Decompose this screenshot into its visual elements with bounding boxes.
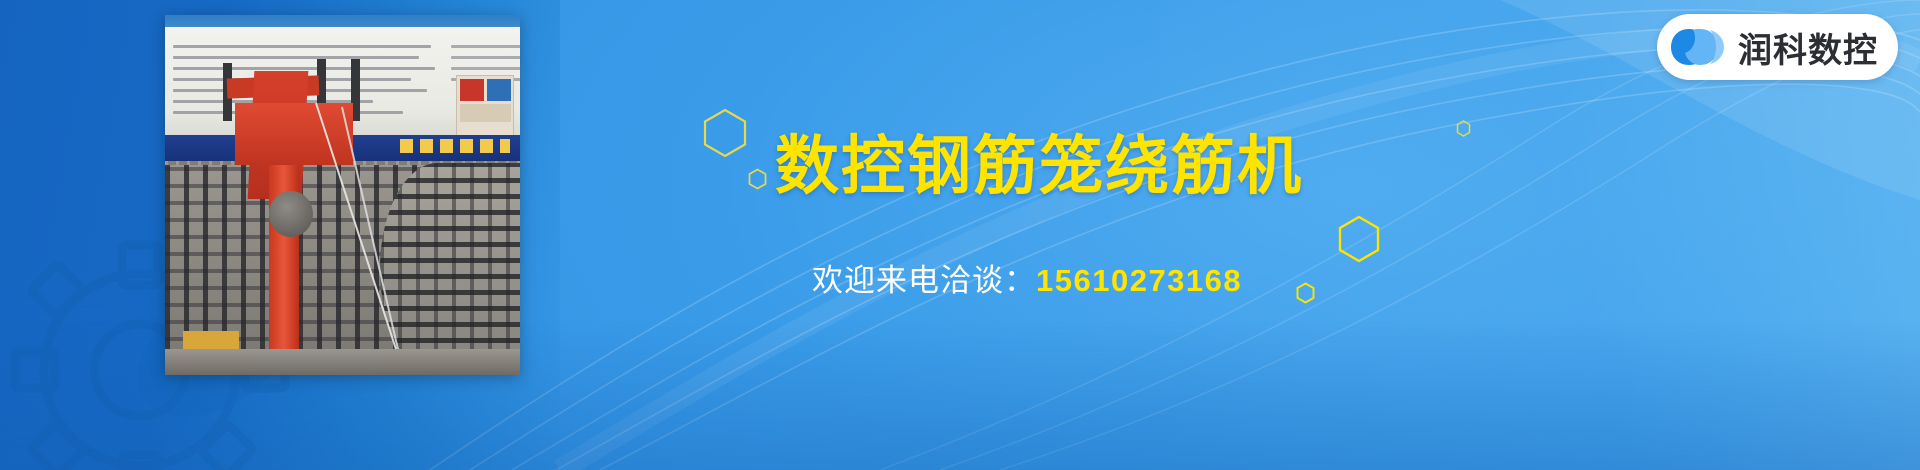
- contact-phone-number[interactable]: 15610273168: [1036, 263, 1242, 298]
- hexagon-small-left-icon: [748, 168, 767, 190]
- brand-name: 润科数控: [1738, 23, 1878, 72]
- contact-line: 欢迎来电洽谈：15610273168: [812, 262, 1242, 299]
- contact-label: 欢迎来电洽谈：: [812, 263, 1036, 298]
- brand-logo[interactable]: 润科数控: [1657, 14, 1898, 80]
- promotional-banner: 数控钢筋笼绕筋机 欢迎来电洽谈：15610273168 润科数控: [0, 0, 1920, 470]
- hexagon-large-left-icon: [703, 108, 747, 158]
- hexagon-small-right-icon: [1296, 282, 1315, 304]
- hexagon-large-right-icon: [1338, 215, 1380, 263]
- hexagon-tiny-right-icon: [1456, 120, 1471, 137]
- three-overlapping-petals-mark-icon: [1669, 25, 1725, 69]
- cnc-rebar-cage-winding-machine-photo: [165, 15, 520, 375]
- page-title: 数控钢筋笼绕筋机: [775, 133, 1303, 200]
